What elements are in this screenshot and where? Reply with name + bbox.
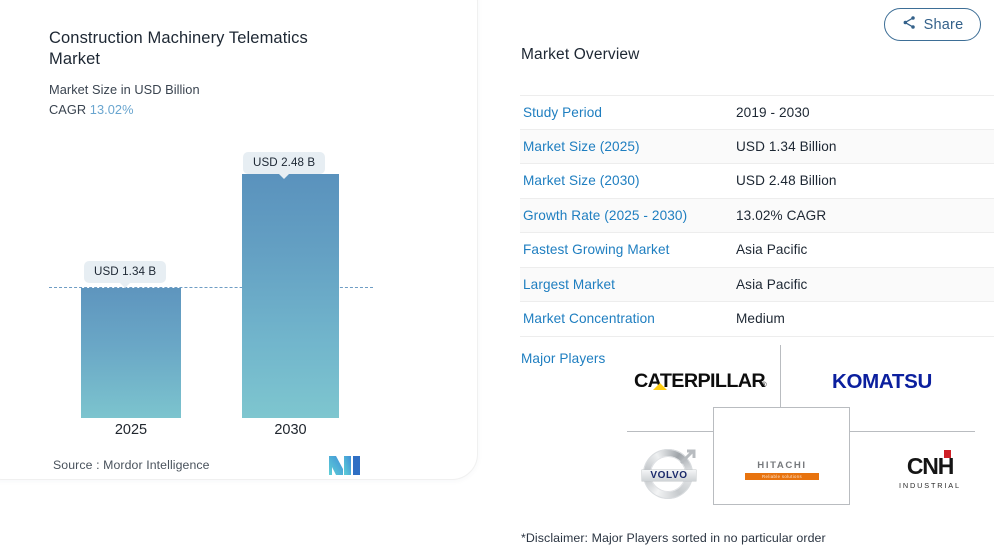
row-key: Study Period — [520, 105, 736, 120]
volvo-logo-text: VOLVO — [650, 470, 687, 481]
market-overview-table: Study Period 2019 - 2030 Market Size (20… — [520, 95, 994, 337]
data-label-2030: USD 2.48 B — [243, 152, 325, 174]
panel-title: Market Overview — [521, 46, 640, 64]
row-value: USD 1.34 Billion — [736, 139, 837, 154]
row-value: USD 2.48 Billion — [736, 173, 837, 188]
hitachi-logo-text: HITACHI — [745, 460, 819, 471]
bar-2025[interactable] — [81, 288, 181, 418]
overview-panel: Share Market Overview Study Period 2019 … — [519, 0, 995, 556]
source-label: Source : — [53, 458, 100, 472]
table-row: Largest Market Asia Pacific — [520, 268, 994, 303]
source-name: Mordor Intelligence — [103, 458, 209, 472]
row-value: Asia Pacific — [736, 242, 807, 257]
bar-2030[interactable] — [242, 174, 339, 418]
table-row: Growth Rate (2025 - 2030) 13.02% CAGR — [520, 199, 994, 234]
cnh-logo-subtext: INDUSTRIAL — [899, 481, 961, 490]
x-axis-label-2025: 2025 — [81, 422, 181, 438]
komatsu-logo: KOMATSU — [802, 365, 962, 399]
chart-source: Source : Mordor Intelligence — [53, 458, 210, 472]
hitachi-tagline-text: Reliable solutions — [762, 474, 802, 479]
share-button-label: Share — [924, 17, 964, 33]
mordor-intelligence-logo-icon — [328, 454, 365, 476]
chart-card: Construction Machinery Telematics Market… — [0, 0, 478, 480]
table-row: Market Size (2025) USD 1.34 Billion — [520, 130, 994, 165]
major-players-title: Major Players — [521, 351, 605, 366]
x-axis-label-2030: 2030 — [242, 422, 339, 438]
share-button[interactable]: Share — [884, 8, 981, 41]
row-key: Largest Market — [520, 277, 736, 292]
hitachi-logo: HITACHI Reliable solutions — [744, 453, 820, 487]
major-players-grid: CATERPILLAR ® KOMATSU — [614, 345, 989, 505]
table-row: Market Concentration Medium — [520, 302, 994, 337]
share-nodes-icon — [902, 15, 917, 35]
row-value: Medium — [736, 311, 785, 326]
row-value: Asia Pacific — [736, 277, 807, 292]
hitachi-tagline-bar: Reliable solutions — [745, 473, 819, 480]
row-key: Market Size (2030) — [520, 173, 736, 188]
volvo-logo: VOLVO — [629, 445, 709, 505]
cnh-red-square-icon — [944, 450, 951, 458]
row-key: Market Concentration — [520, 311, 736, 326]
row-key: Market Size (2025) — [520, 139, 736, 154]
volvo-wordmark-band: VOLVO — [642, 470, 696, 481]
table-row: Fastest Growing Market Asia Pacific — [520, 233, 994, 268]
table-row: Study Period 2019 - 2030 — [520, 95, 994, 130]
row-key: Fastest Growing Market — [520, 242, 736, 257]
cnh-industrial-logo: CNH INDUSTRIAL — [886, 447, 974, 495]
data-label-2025: USD 1.34 B — [84, 261, 166, 283]
bar-chart-plot: USD 1.34 B USD 2.48 B 2025 2030 — [1, 1, 479, 481]
caterpillar-logo: CATERPILLAR ® — [628, 365, 773, 399]
row-value: 13.02% CAGR — [736, 208, 826, 223]
players-disclaimer: *Disclaimer: Major Players sorted in no … — [521, 531, 826, 545]
komatsu-logo-text: KOMATSU — [832, 370, 932, 393]
table-row: Market Size (2030) USD 2.48 Billion — [520, 164, 994, 199]
chart-card-inner: Construction Machinery Telematics Market… — [1, 1, 479, 481]
volvo-iron-mark-icon — [679, 448, 696, 465]
row-key: Growth Rate (2025 - 2030) — [520, 208, 736, 223]
market-snapshot-page: Construction Machinery Telematics Market… — [0, 0, 995, 556]
row-value: 2019 - 2030 — [736, 105, 810, 120]
caterpillar-triangle-icon — [653, 383, 667, 390]
